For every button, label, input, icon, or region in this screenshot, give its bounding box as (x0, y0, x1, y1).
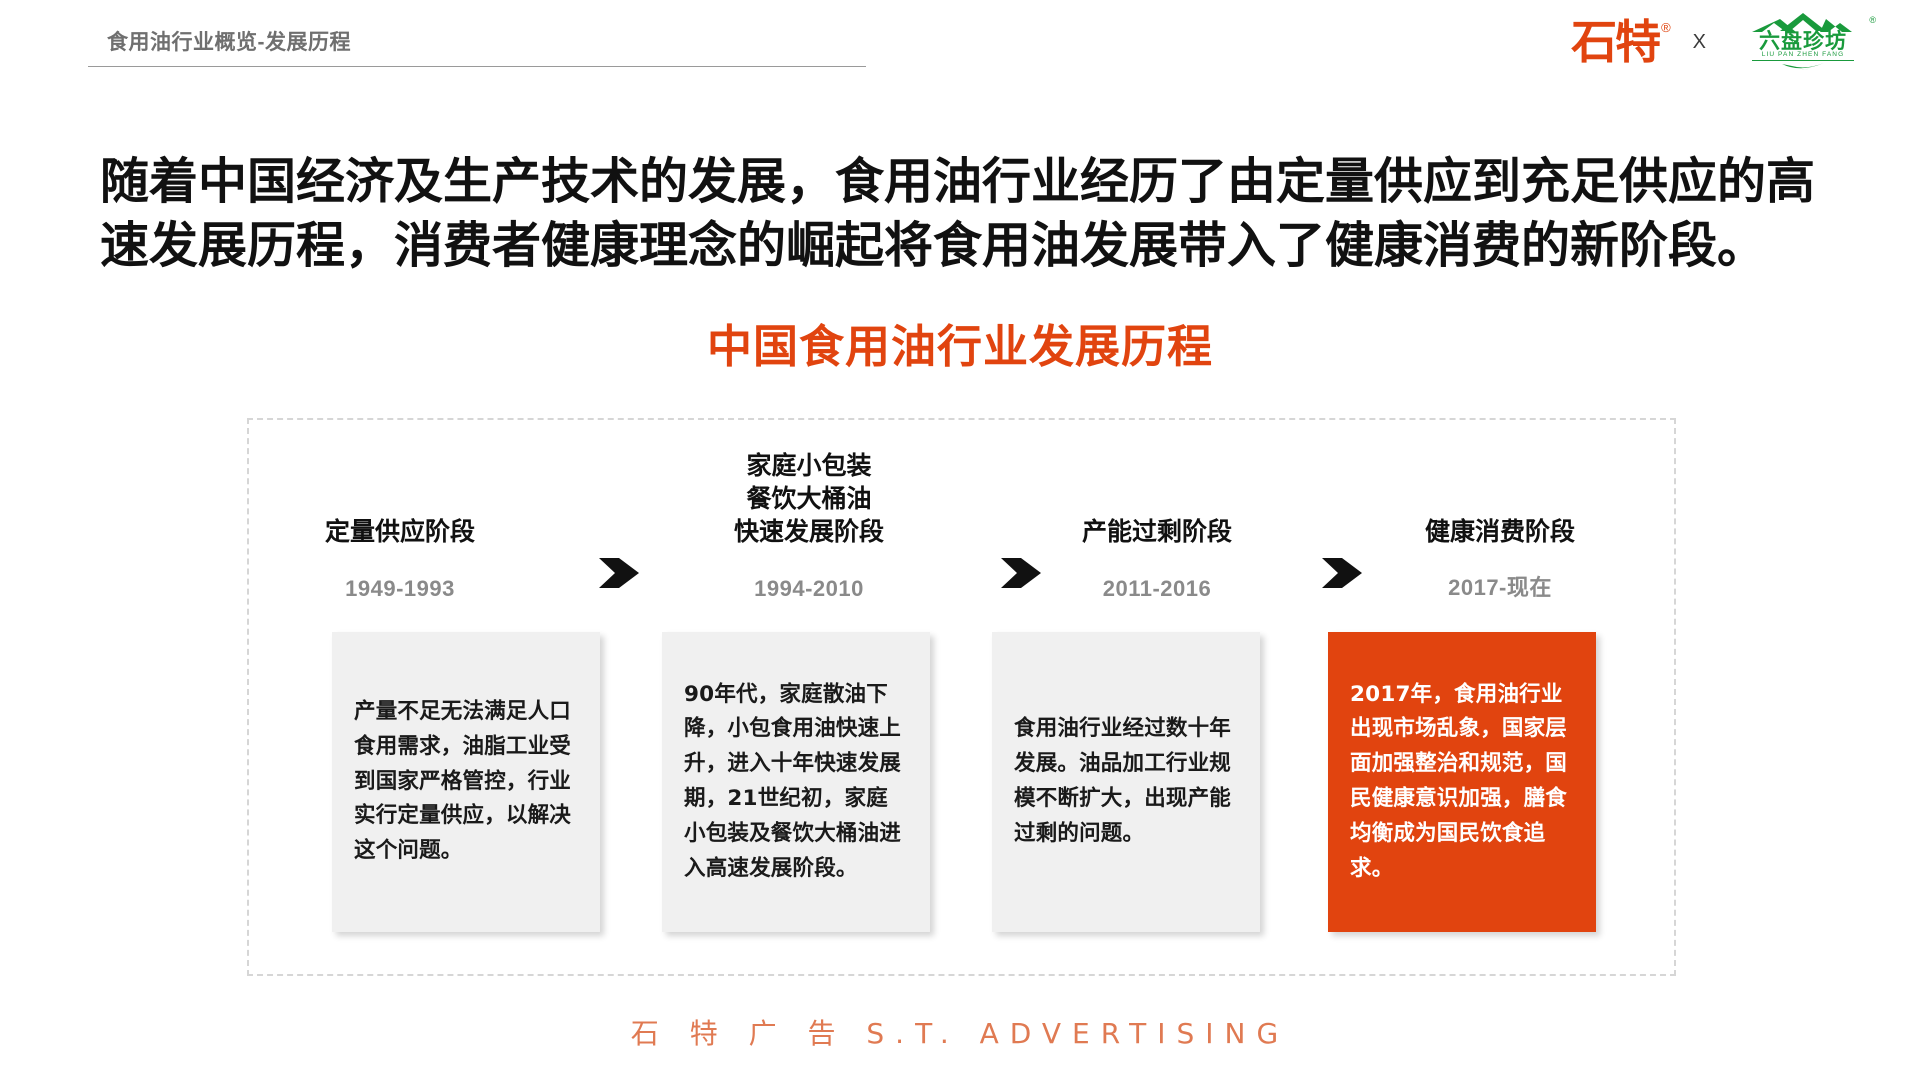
stage-label: 产能过剩阶段 (1032, 515, 1282, 548)
page-headline: 随着中国经济及生产技术的发展，食用油行业经历了由定量供应到充足供应的高速发展历程… (100, 150, 1840, 277)
timeline-card-3[interactable]: 食用油行业经过数十年发展。油品加工行业规模不断扩大，出现产能过剩的问题。 (992, 632, 1260, 932)
logo-connector: X (1689, 31, 1710, 54)
partner-registered-trademark-icon: ® (1869, 15, 1876, 25)
chevron-right-icon-3 (1320, 556, 1364, 590)
section-title: 中国食用油行业发展历程 (0, 310, 1920, 375)
timeline-cards: 产量不足无法满足人口食用需求，油脂工业受到国家严格管控，行业实行定量供应，以解决… (247, 630, 1676, 935)
stage-label: 家庭小包装 餐饮大桶油 快速发展阶段 (684, 449, 934, 548)
logo-block: 石特 ® X 六盘珍坊 LIU PAN ZHEN FANG ® (1571, 10, 1878, 74)
liupan-logo-name: 六盘珍坊 (1728, 31, 1878, 52)
stage-header-3: 产能过剩阶段 2011-2016 (1032, 440, 1282, 620)
stage-header-4: 健康消费阶段 2017-现在 (1375, 440, 1625, 620)
page-header: 食用油行业概览-发展历程 石特 ® X 六盘珍坊 LIU PAN ZHEN FA… (0, 0, 1920, 92)
stage-date: 2017-现在 (1375, 570, 1625, 602)
footer-brand: 石 特 广 告 S.T. ADVERTISING (0, 1012, 1920, 1052)
header-divider (88, 66, 866, 67)
stage-date: 2011-2016 (1032, 576, 1282, 602)
stage-label: 定量供应阶段 (275, 515, 525, 548)
stage-header-1: 定量供应阶段 1949-1993 (275, 440, 525, 620)
wheat-swoosh-icon (1780, 61, 1826, 73)
breadcrumb: 食用油行业概览-发展历程 (107, 26, 351, 56)
card-body-text: 食用油行业经过数十年发展。油品加工行业规模不断扩大，出现产能过剩的问题。 (1014, 712, 1238, 851)
card-body-text: 产量不足无法满足人口食用需求，油脂工业受到国家严格管控，行业实行定量供应，以解决… (354, 695, 578, 869)
shite-logo: 石特 ® (1571, 19, 1671, 65)
timeline-card-4[interactable]: 2017年，食用油行业出现市场乱象，国家层面加强整治和规范，国民健康意识加强，膳… (1328, 632, 1596, 932)
liupan-logo: 六盘珍坊 LIU PAN ZHEN FANG ® (1728, 11, 1878, 73)
timeline-card-1[interactable]: 产量不足无法满足人口食用需求，油脂工业受到国家严格管控，行业实行定量供应，以解决… (332, 632, 600, 932)
card-body-text: 90年代，家庭散油下降，小包食用油快速上升，进入十年快速发展期，21世纪初，家庭… (684, 678, 908, 887)
stage-date: 1994-2010 (684, 576, 934, 602)
liupan-logo-pinyin: LIU PAN ZHEN FANG (1728, 52, 1878, 59)
stage-header-2: 家庭小包装 餐饮大桶油 快速发展阶段 1994-2010 (684, 440, 934, 620)
stage-label: 健康消费阶段 (1375, 515, 1625, 548)
stage-date: 1949-1993 (275, 576, 525, 602)
timeline-card-2[interactable]: 90年代，家庭散油下降，小包食用油快速上升，进入十年快速发展期，21世纪初，家庭… (662, 632, 930, 932)
timeline-stage-headers: 定量供应阶段 1949-1993 家庭小包装 餐饮大桶油 快速发展阶段 1994… (247, 440, 1676, 620)
shite-logo-mark: 石特 (1571, 19, 1659, 65)
card-body-text: 2017年，食用油行业出现市场乱象，国家层面加强整治和规范，国民健康意识加强，膳… (1350, 678, 1574, 887)
chevron-right-icon-1 (597, 556, 641, 590)
registered-trademark-icon: ® (1661, 21, 1671, 34)
